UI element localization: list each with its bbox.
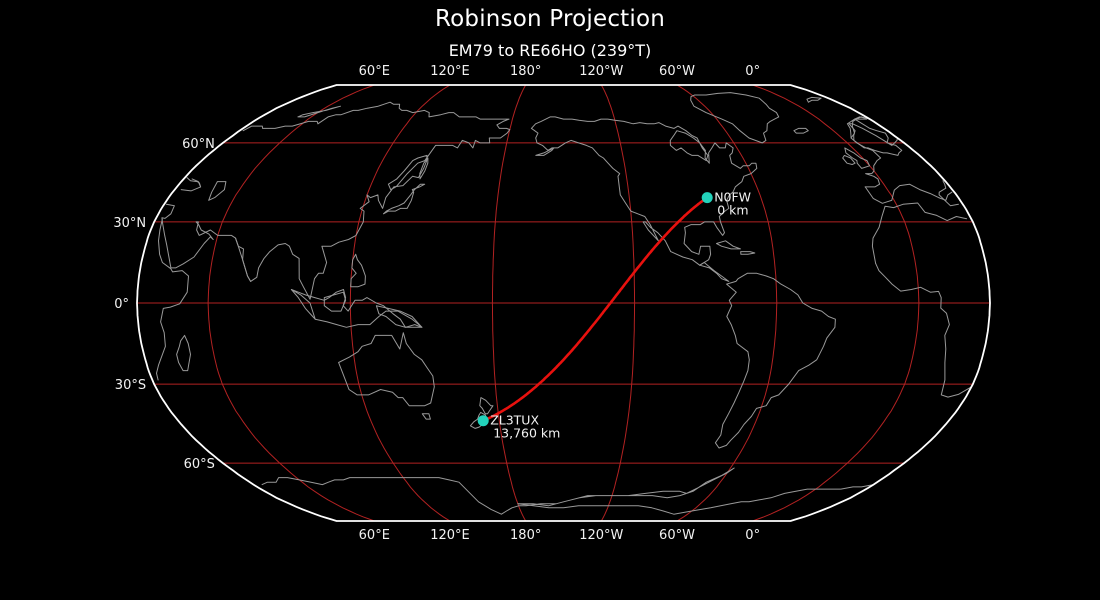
great-circle-path bbox=[483, 198, 707, 421]
lon-label-top-4: 60°W bbox=[659, 64, 695, 79]
world-map: N0FW0 kmZL3TUX13,760 km 60°E60°E120°E120… bbox=[0, 0, 1100, 600]
lon-label-top-0: 60°E bbox=[359, 64, 390, 79]
graticule-lines bbox=[137, 85, 990, 521]
coastline-cenam bbox=[700, 263, 729, 282]
marker-n0fw-distance: 0 km bbox=[717, 203, 748, 218]
coastline-alaska_pen bbox=[536, 148, 554, 156]
lat-label-0: 60°N bbox=[182, 137, 215, 152]
lat-label-4: 60°S bbox=[184, 457, 215, 472]
path-segment bbox=[483, 198, 707, 421]
marker-zl3tux-distance: 13,760 km bbox=[493, 426, 560, 441]
coastline-africa-1 bbox=[157, 219, 189, 380]
coastline-africa bbox=[876, 263, 972, 397]
marker-zl3tux[interactable] bbox=[478, 415, 489, 426]
coastline-cuba bbox=[717, 241, 741, 249]
map-figure: Robinson Projection EM79 to RE66HO (239°… bbox=[0, 0, 1100, 600]
lon-label-top-5: 0° bbox=[745, 64, 760, 79]
station-markers: N0FW0 kmZL3TUX13,760 km bbox=[478, 190, 751, 441]
coastline-britain bbox=[845, 148, 870, 169]
coastline-eurasia-3 bbox=[162, 102, 510, 299]
marker-n0fw[interactable] bbox=[702, 192, 713, 203]
coastline-samerica bbox=[715, 273, 835, 448]
lon-label-bottom-3: 120°W bbox=[579, 528, 623, 543]
lon-label-top-2: 180° bbox=[510, 64, 541, 79]
lat-label-2: 0° bbox=[114, 297, 129, 312]
coastline-japan bbox=[384, 184, 425, 214]
coastline-blacksea_n-1 bbox=[192, 179, 201, 187]
lat-label-1: 30°N bbox=[113, 216, 146, 231]
lon-label-top-3: 120°W bbox=[579, 64, 623, 79]
lat-label-3: 30°S bbox=[115, 378, 146, 393]
lon-label-top-1: 120°E bbox=[430, 64, 470, 79]
coastline-newguinea bbox=[376, 306, 422, 328]
coastline-borneo_s bbox=[324, 292, 345, 311]
lon-label-bottom-5: 0° bbox=[745, 528, 760, 543]
coastline-africa-2 bbox=[872, 203, 966, 263]
lon-label-bottom-2: 180° bbox=[510, 528, 541, 543]
lon-label-bottom-0: 60°E bbox=[359, 528, 390, 543]
coastline-iceland bbox=[794, 128, 808, 133]
coastline-hispaniola bbox=[741, 252, 755, 255]
coastline-nz_north bbox=[480, 398, 493, 414]
coastline-philippines bbox=[351, 254, 366, 286]
coastline-india_extra bbox=[236, 238, 251, 281]
coastline-ireland bbox=[843, 155, 855, 164]
coastline-greenland bbox=[691, 93, 779, 143]
coastline-madagascar bbox=[177, 335, 191, 370]
coastline-caspian bbox=[209, 182, 226, 201]
lon-label-bottom-1: 120°E bbox=[430, 528, 470, 543]
coastline-tasmania bbox=[422, 414, 430, 419]
coastline-antarctica bbox=[262, 468, 734, 514]
lon-label-bottom-4: 60°W bbox=[659, 528, 695, 543]
coastline-svalbard bbox=[807, 97, 821, 102]
